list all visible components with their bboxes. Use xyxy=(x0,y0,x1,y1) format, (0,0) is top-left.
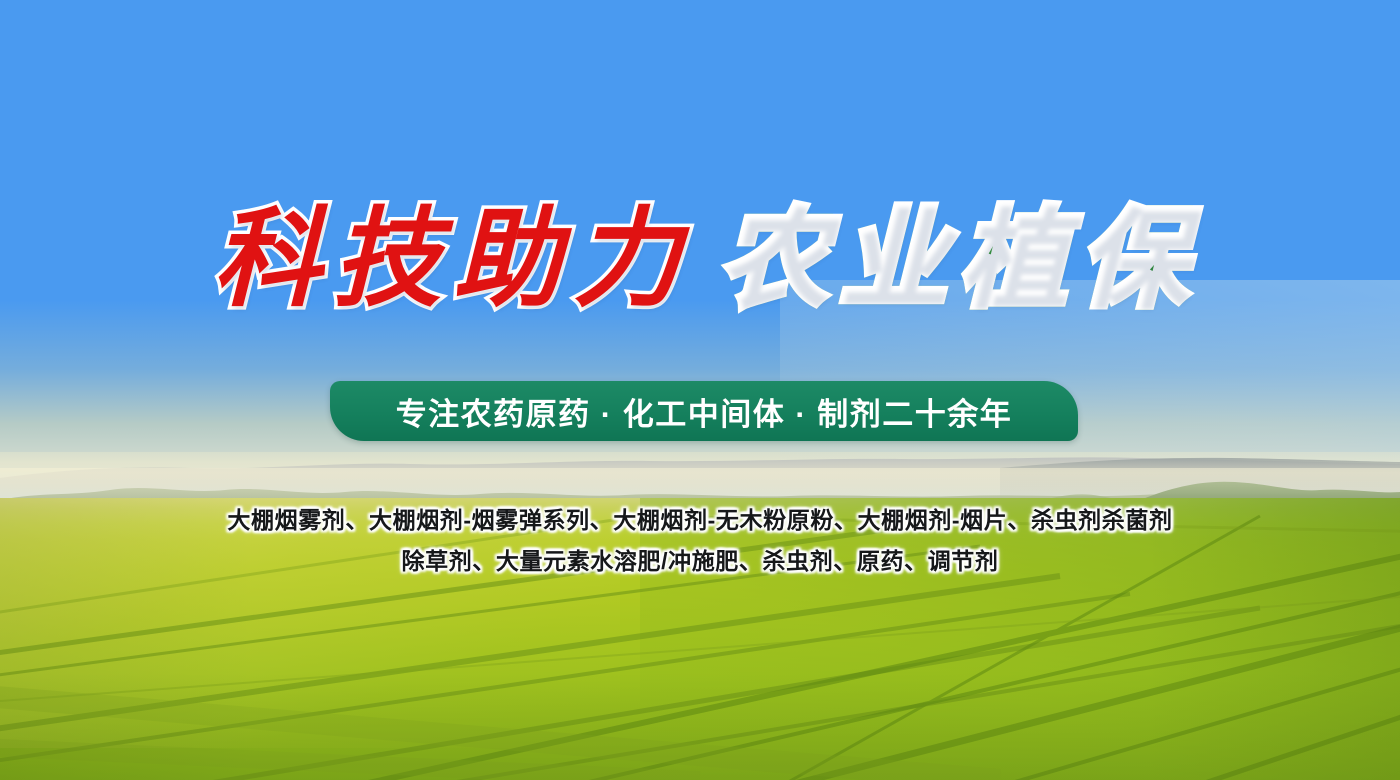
title-char-green-3: 植 xyxy=(953,205,1073,313)
title-char-green-4: 保 xyxy=(1073,205,1193,313)
promotional-banner: 科技助力农业植保 专注农药原药 · 化工中间体 · 制剂二十余年 大棚烟雾剂、大… xyxy=(0,0,1400,780)
title-char-green-2: 业 xyxy=(833,205,953,313)
title-char-red-2: 技 xyxy=(327,205,447,313)
product-line-1: 大棚烟雾剂、大棚烟剂-烟雾弹系列、大棚烟剂-无木粉原粉、大棚烟剂-烟片、杀虫剂杀… xyxy=(0,500,1400,541)
subtitle-banner: 专注农药原药 · 化工中间体 · 制剂二十余年 xyxy=(330,381,1078,441)
title-char-green-1: 农 xyxy=(713,205,833,313)
product-list: 大棚烟雾剂、大棚烟剂-烟雾弹系列、大棚烟剂-无木粉原粉、大棚烟剂-烟片、杀虫剂杀… xyxy=(0,500,1400,582)
product-line-2: 除草剂、大量元素水溶肥/冲施肥、杀虫剂、原药、调节剂 xyxy=(0,541,1400,582)
title-char-red-4: 力 xyxy=(567,205,687,313)
main-title: 科技助力农业植保 xyxy=(0,205,1400,313)
title-char-red-1: 科 xyxy=(207,205,327,313)
title-char-red-3: 助 xyxy=(447,205,567,313)
subtitle-text: 专注农药原药 · 化工中间体 · 制剂二十余年 xyxy=(396,389,1013,434)
